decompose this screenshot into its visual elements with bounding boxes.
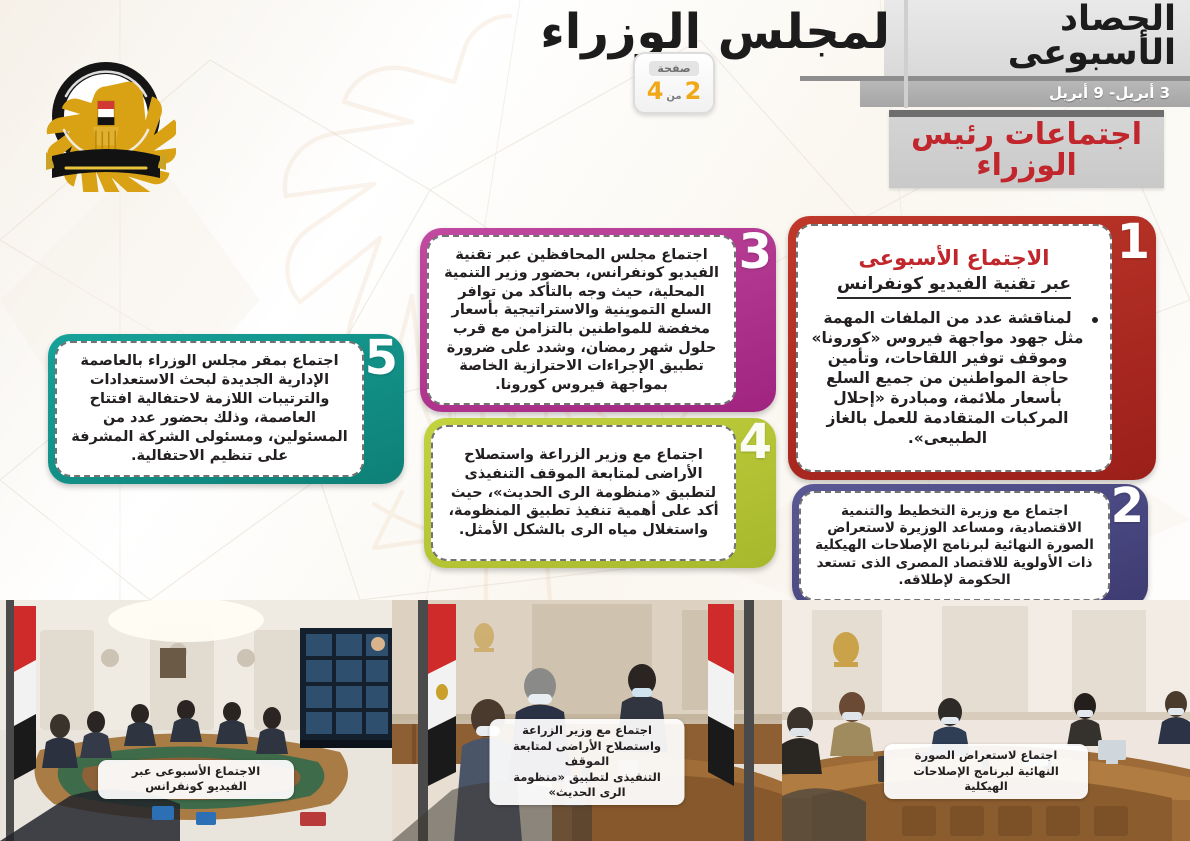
section-header: اجتماعات رئيس الوزراء — [889, 110, 1164, 188]
meeting-room-image-3 — [0, 600, 392, 841]
card-2[interactable]: 2 اجتماع مع وزيرة التخطيط والتنمية الاقت… — [792, 484, 1148, 608]
card-3-text: اجتماع مجلس المحافظين عبر تقنية الفيديو … — [441, 246, 722, 394]
meeting-room-image-1 — [782, 600, 1190, 841]
photo-1-caption: اجتماع لاستعراض الصورة النهائية لبرنامج … — [884, 744, 1088, 799]
publication-title-line2: الأسبوعى — [906, 36, 1176, 70]
photo-2-caption: اجتماع مع وزير الزراعة واستصلاح الأراضى … — [490, 719, 685, 805]
card-1-body: الاجتماع الأسبوعى عبر تقنية الفيديو كونف… — [798, 226, 1110, 470]
card-4[interactable]: 4 اجتماع مع وزير الزراعة واستصلاح الأراض… — [424, 418, 776, 568]
infographic-page: الحصاد الأسبوعى لمجلس الوزراء 3 أبريل- 9… — [0, 0, 1190, 841]
card-2-body: اجتماع مع وزيرة التخطيط والتنمية الاقتصا… — [801, 493, 1108, 599]
card-3[interactable]: 3 اجتماع مجلس المحافظين عبر تقنية الفيدي… — [420, 228, 776, 412]
publication-title-line1: الحصاد — [906, 2, 1176, 36]
cabinet-media-center-logo — [36, 52, 176, 192]
section-title-line1: اجتماعات رئيس — [897, 120, 1156, 151]
card-5[interactable]: 5 اجتماع بمقر مجلس الوزراء بالعاصمة الإد… — [48, 334, 404, 484]
photo-strip: اجتماع لاستعراض الصورة النهائية لبرنامج … — [0, 600, 1190, 841]
card-4-inner: اجتماع مع وزير الزراعة واستصلاح الأراضى … — [431, 425, 736, 561]
photo-agriculture-irrigation-meeting: اجتماع مع وزير الزراعة واستصلاح الأراضى … — [392, 600, 782, 841]
page-badge-numbers: 4 من 2 — [647, 77, 702, 105]
card-1-text: لمناقشة عدد من الملفات المهمة مثل جهود م… — [810, 308, 1085, 449]
card-1-inner: الاجتماع الأسبوعى عبر تقنية الفيديو كونف… — [796, 224, 1112, 472]
card-2-inner: اجتماع مع وزيرة التخطيط والتنمية الاقتصا… — [799, 491, 1110, 601]
photo-weekly-videoconference-meeting: الاجتماع الأسبوعى عبر الفيديو كونفرانس — [0, 600, 392, 841]
card-4-body: اجتماع مع وزير الزراعة واستصلاح الأراضى … — [433, 427, 734, 559]
card-2-text: اجتماع مع وزيرة التخطيط والتنمية الاقتصا… — [813, 503, 1096, 589]
page-badge-caption: صفحة — [649, 61, 698, 77]
card-1[interactable]: 1 الاجتماع الأسبوعى عبر تقنية الفيديو كو… — [788, 216, 1156, 480]
publication-title: الحصاد الأسبوعى — [906, 2, 1176, 71]
card-4-number: 4 — [739, 418, 772, 466]
card-1-subtitle: عبر تقنية الفيديو كونفرانس — [837, 274, 1071, 299]
photo-structural-reforms-meeting: اجتماع لاستعراض الصورة النهائية لبرنامج … — [782, 600, 1190, 841]
page-badge-total: 4 — [647, 77, 664, 105]
date-range: 3 أبريل- 9 أبريل — [1049, 84, 1170, 102]
card-5-body: اجتماع بمقر مجلس الوزراء بالعاصمة الإدار… — [57, 343, 362, 475]
section-header-accent-bar — [889, 110, 1164, 117]
publication-subject: لمجلس الوزراء — [540, 4, 890, 60]
card-1-title: الاجتماع الأسبوعى — [810, 247, 1098, 270]
page-badge-of: من — [666, 91, 681, 102]
section-title-line2: الوزراء — [897, 151, 1156, 182]
card-1-number: 1 — [1117, 218, 1150, 266]
card-5-inner: اجتماع بمقر مجلس الوزراء بالعاصمة الإدار… — [55, 341, 364, 477]
card-3-number: 3 — [739, 228, 772, 276]
photo-3-caption: الاجتماع الأسبوعى عبر الفيديو كونفرانس — [98, 760, 294, 799]
card-3-inner: اجتماع مجلس المحافظين عبر تقنية الفيديو … — [427, 235, 736, 405]
page-badge-current: 2 — [685, 77, 702, 105]
page-number-badge: صفحة 4 من 2 — [633, 52, 715, 114]
card-1-bullet-row: لمناقشة عدد من الملفات المهمة مثل جهود م… — [810, 308, 1098, 449]
card-3-body: اجتماع مجلس المحافظين عبر تقنية الفيديو … — [429, 237, 734, 403]
card-5-text: اجتماع بمقر مجلس الوزراء بالعاصمة الإدار… — [69, 352, 350, 465]
card-4-text: اجتماع مع وزير الزراعة واستصلاح الأراضى … — [445, 446, 722, 540]
section-header-text: اجتماعات رئيس الوزراء — [897, 120, 1156, 184]
card-2-number: 2 — [1111, 484, 1144, 530]
bullet-icon — [1092, 317, 1098, 323]
card-5-number: 5 — [365, 334, 398, 382]
